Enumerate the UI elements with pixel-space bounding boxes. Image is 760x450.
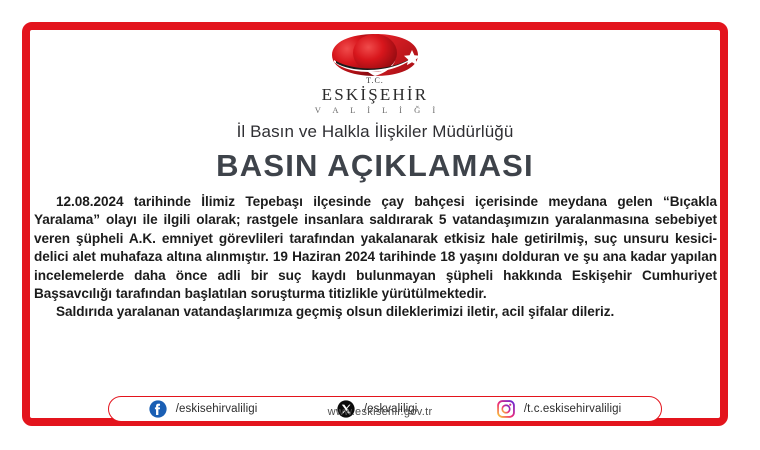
department-title: İl Basın ve Halkla İlişkiler Müdürlüğü [30,122,720,142]
emblem-block: T.C. ESKİŞEHİR V A L İ L İ Ğ İ [30,28,720,116]
eskisehir-governorship-emblem [316,32,434,78]
tc-label: T.C. [30,76,720,85]
website-url[interactable]: www.eskisehir.gov.tr [0,406,760,418]
governorship-label: V A L İ L İ Ğ İ [30,105,720,116]
body-paragraph-2: Saldırıda yaralanan vatandaşlarımıza geç… [34,303,717,321]
province-label: ESKİŞEHİR [30,86,720,104]
press-release-poster: T.C. ESKİŞEHİR V A L İ L İ Ğ İ İl Basın … [0,0,760,450]
body-paragraph-1: 12.08.2024 tarihinde İlimiz Tepebaşı ilç… [34,193,717,303]
announcement-body: 12.08.2024 tarihinde İlimiz Tepebaşı ilç… [30,193,720,322]
poster-content: T.C. ESKİŞEHİR V A L İ L İ Ğ İ İl Basın … [30,28,720,420]
page-title: BASIN AÇIKLAMASI [30,149,720,183]
